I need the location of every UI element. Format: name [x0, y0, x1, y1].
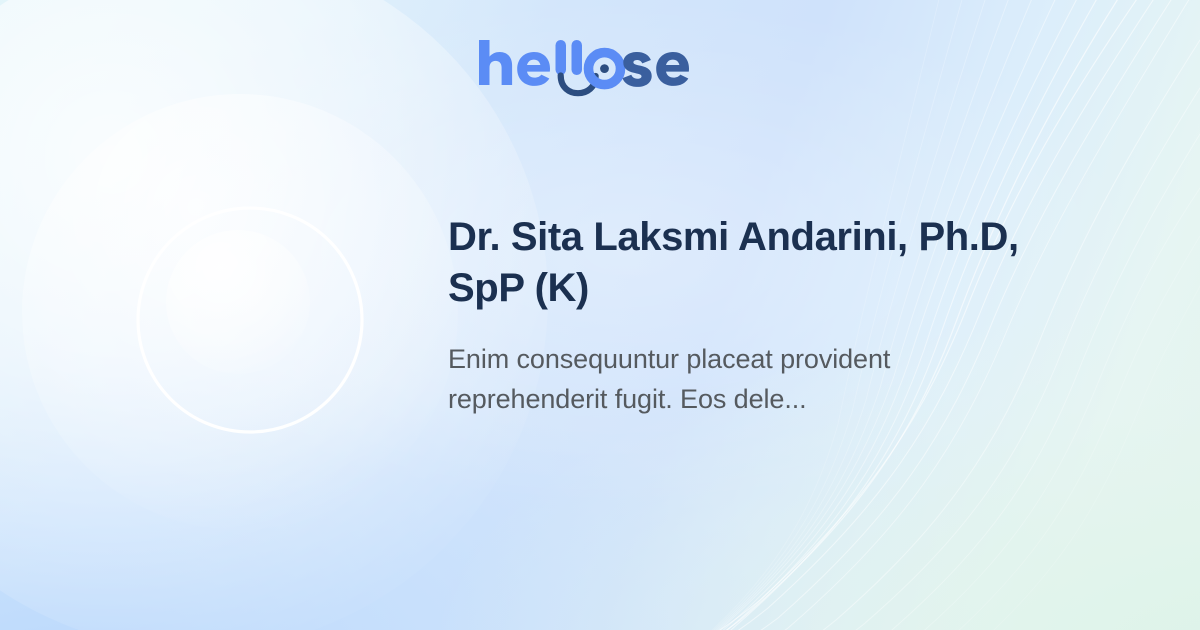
page-subtitle: Enim consequuntur placeat provident repr…	[448, 314, 1028, 419]
hellosehat-logo-icon	[477, 38, 723, 98]
stethoscope-diaphragm	[600, 64, 609, 73]
brand-logo[interactable]	[0, 38, 1200, 98]
page-title: Dr. Sita Laksmi Andarini, Ph.D, SpP (K)	[448, 212, 1028, 314]
og-card: Dr. Sita Laksmi Andarini, Ph.D, SpP (K) …	[0, 0, 1200, 630]
content-block: Dr. Sita Laksmi Andarini, Ph.D, SpP (K) …	[448, 212, 1028, 419]
